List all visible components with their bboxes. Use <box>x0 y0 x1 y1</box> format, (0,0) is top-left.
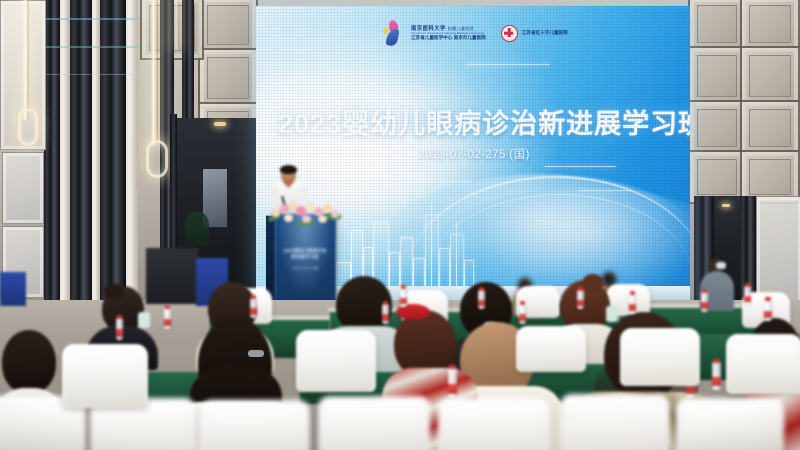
water-bottle <box>764 300 772 321</box>
ceiling-panel <box>740 0 800 52</box>
water-bottle <box>382 304 389 324</box>
window-mullion <box>44 18 140 20</box>
equipment-case <box>0 272 26 306</box>
front-row-chair <box>676 398 784 450</box>
podium-flower-arrangement <box>268 199 342 227</box>
eyeglasses-icon <box>248 350 264 357</box>
water-bottle <box>448 368 457 398</box>
water-bottle <box>712 362 721 390</box>
wall-column <box>44 0 60 300</box>
water-bottle <box>744 286 751 305</box>
water-bottle <box>701 292 708 312</box>
pendant-light <box>150 0 158 145</box>
plant <box>185 212 209 246</box>
wall-column <box>70 0 92 300</box>
pendant-light <box>174 0 179 50</box>
ceiling-panel <box>740 100 800 156</box>
wall-panel <box>2 152 44 224</box>
wall-column <box>126 0 138 300</box>
wall-column <box>92 0 100 300</box>
pendant-light <box>146 140 168 178</box>
audience-chair <box>516 326 586 372</box>
pendant-light <box>22 0 29 120</box>
water-bottle <box>478 290 485 309</box>
ceiling-panel <box>688 46 746 106</box>
attendee-mask <box>716 262 726 269</box>
window-mullion <box>44 74 140 75</box>
podium-sign-title: 2023婴幼儿眼病诊治 新进展学习班 <box>274 248 336 261</box>
front-row-chair <box>438 398 550 450</box>
door-light <box>722 204 730 207</box>
front-row-chair <box>200 400 310 450</box>
water-bottle <box>400 288 407 307</box>
water-bottle <box>164 308 171 329</box>
audience-chair <box>62 344 148 408</box>
ceiling-panel <box>198 48 258 108</box>
water-bottle <box>519 304 526 324</box>
ceiling-panel <box>688 0 746 52</box>
door-light <box>214 122 226 126</box>
person-head <box>2 330 56 394</box>
wall-column <box>100 0 126 300</box>
water-bottle <box>250 298 257 318</box>
audience-chair <box>726 334 800 394</box>
conference-photo: 南京医科大学 附属儿童医院 Children's Hospital of Nan… <box>0 0 800 450</box>
glasses-icon <box>282 172 295 176</box>
hair-bun-icon <box>582 274 604 292</box>
pendant-light <box>18 108 38 146</box>
hair-bun-icon <box>104 284 124 299</box>
podium-sign-date: 2023-07-02-275 (国) <box>274 266 336 270</box>
ceiling-panel <box>740 46 800 106</box>
water-bottle <box>116 318 123 340</box>
water-bottle <box>629 294 636 314</box>
audience-chair <box>296 330 376 392</box>
window-mullion <box>44 46 140 48</box>
wall-column <box>60 0 70 300</box>
face-mask-icon <box>138 312 150 328</box>
audience-chair <box>620 328 700 386</box>
ceiling-panel <box>688 100 746 156</box>
water-bottle <box>577 290 584 309</box>
front-row-chair <box>560 394 670 450</box>
ceiling-panel <box>198 0 258 54</box>
front-row-chair <box>318 396 430 450</box>
